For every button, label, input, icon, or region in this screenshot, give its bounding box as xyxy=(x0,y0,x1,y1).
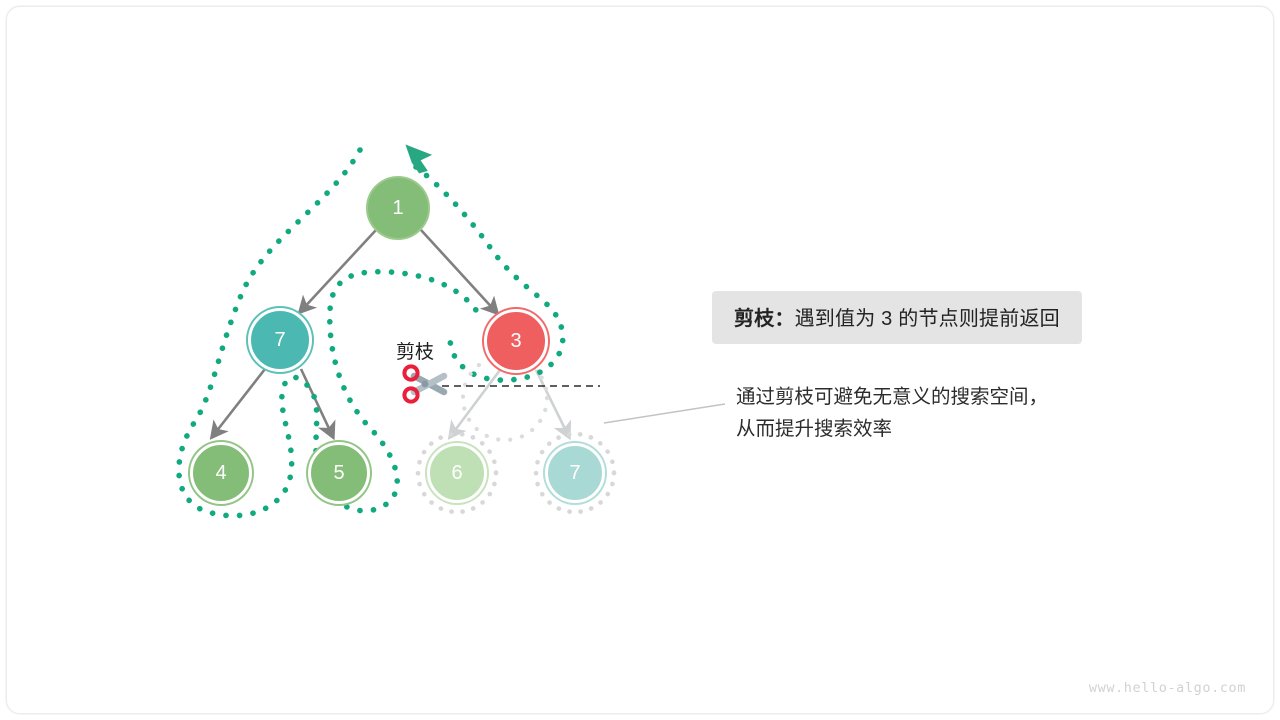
tree-node-5[interactable]: 5 xyxy=(308,442,370,504)
tree-node-1[interactable]: 1 xyxy=(366,176,430,240)
cursor-arrow-icon xyxy=(406,140,434,175)
note-leader-line xyxy=(604,404,725,423)
tree-node-7-right-value: 7 xyxy=(569,463,580,483)
explanation-note-line-2: 从而提升搜索效率 xyxy=(736,414,1048,446)
edge-7L-to-4 xyxy=(212,369,265,437)
callout-highlight-box: 剪枝：遇到值为 3 的节点则提前返回 xyxy=(712,291,1082,344)
tree-node-7-left-value: 7 xyxy=(274,330,285,350)
callout-body: 遇到值为 3 的节点则提前返回 xyxy=(795,308,1060,330)
edge-3-to-7R xyxy=(536,370,569,437)
tree-node-5-value: 5 xyxy=(333,463,344,483)
edge-3-to-6 xyxy=(450,370,500,437)
callout-title: 剪枝： xyxy=(734,308,795,330)
tree-node-1-value: 1 xyxy=(392,198,403,218)
diagram-vector-layer xyxy=(0,0,1280,720)
edge-1-to-3 xyxy=(421,230,497,313)
tree-node-3-pruned[interactable]: 3 xyxy=(484,309,548,373)
tree-node-7-left[interactable]: 7 xyxy=(248,308,312,372)
tree-node-6-skipped[interactable]: 6 xyxy=(427,443,487,503)
prune-label: 剪枝 xyxy=(396,337,434,364)
tree-node-3-value: 3 xyxy=(510,331,521,351)
explanation-note-line-1: 通过剪枝可避免无意义的搜索空间， xyxy=(736,382,1048,414)
scissors-icon xyxy=(404,366,444,401)
tree-edges-pruned xyxy=(450,370,569,437)
tree-node-7-right-skipped[interactable]: 7 xyxy=(545,443,605,503)
tree-node-6-value: 6 xyxy=(451,463,462,483)
watermark: www.hello-algo.com xyxy=(1089,680,1246,696)
diagram-canvas: 剪枝 1 7 3 4 5 6 7 剪枝：遇到值为 3 的节点则提前返回 通过剪枝… xyxy=(0,0,1280,720)
explanation-note: 通过剪枝可避免无意义的搜索空间， 从而提升搜索效率 xyxy=(736,382,1048,445)
edge-7L-to-5 xyxy=(301,369,333,437)
tree-node-4-value: 4 xyxy=(215,463,226,483)
tree-node-4[interactable]: 4 xyxy=(190,442,252,504)
